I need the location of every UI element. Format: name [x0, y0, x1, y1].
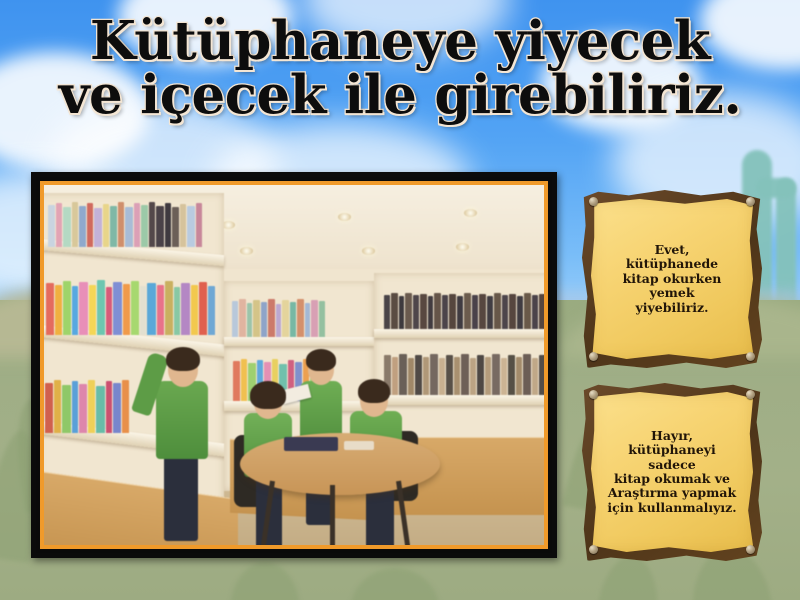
- book-row: [44, 199, 220, 247]
- book-on-table-icon: [284, 437, 338, 451]
- ceiling-light-icon: [338, 213, 351, 221]
- student-seated-left-hair: [250, 381, 286, 409]
- ceiling-light-icon: [240, 247, 253, 255]
- student-seated-right-hair: [358, 379, 390, 403]
- stud-icon: [746, 390, 755, 399]
- library-photo-frame: [31, 172, 557, 558]
- stud-icon: [589, 352, 598, 361]
- stud-icon: [746, 352, 755, 361]
- ceiling-light-icon: [362, 247, 375, 255]
- table-leg: [330, 485, 335, 545]
- ceiling-light-icon: [464, 209, 477, 217]
- stud-icon: [746, 197, 755, 206]
- book-row: [44, 277, 220, 335]
- student-left-legs: [164, 449, 198, 541]
- student-left-body: [156, 381, 208, 459]
- stud-icon: [589, 197, 598, 206]
- answer-card-paper: Evet, kütüphanede kitap okurken yemek yi…: [591, 199, 753, 359]
- shelf-board: [374, 329, 544, 338]
- library-photo-border: [40, 181, 548, 549]
- slide-canvas: Kütüphaneye yiyecek ve içecek ile girebi…: [0, 0, 800, 600]
- student-mid-hair: [306, 349, 336, 371]
- book-row: [230, 295, 370, 337]
- student-left-hair: [166, 347, 200, 371]
- answer-option-1-text: Evet, kütüphanede kitap okurken yemek yi…: [617, 239, 728, 319]
- stud-icon: [589, 545, 598, 554]
- book-row: [382, 289, 544, 329]
- answer-card-paper: Hayır, kütüphaneyi sadece kitap okumak v…: [591, 392, 753, 552]
- ceiling-light-icon: [456, 243, 469, 251]
- shelf-board: [224, 337, 374, 346]
- answer-option-1[interactable]: Evet, kütüphanede kitap okurken yemek yi…: [582, 190, 762, 368]
- cactus-arm-right-join-icon: [756, 178, 796, 198]
- stud-icon: [746, 545, 755, 554]
- answer-option-2[interactable]: Hayır, kütüphaneyi sadece kitap okumak v…: [582, 383, 762, 561]
- shelf-board: [374, 395, 544, 405]
- book-row: [382, 349, 544, 395]
- book-on-table-icon: [344, 441, 374, 450]
- stud-icon: [589, 390, 598, 399]
- answer-option-2-text: Hayır, kütüphaneyi sadece kitap okumak v…: [601, 425, 742, 519]
- library-photo-image: [44, 185, 544, 545]
